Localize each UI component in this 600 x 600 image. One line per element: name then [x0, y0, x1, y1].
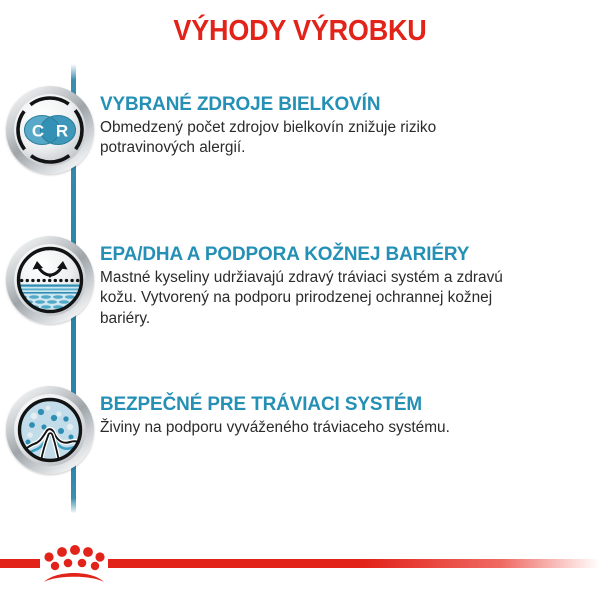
benefit-title: EPA/DHA A PODPORA KOŽNEJ BARIÉRY: [100, 244, 517, 266]
benefit-body: Mastné kyseliny udržiavajú zdravý trávia…: [100, 268, 530, 329]
benefits-list: C R VYBRANÉ ZDROJE BIELKOVÍN Obmedzený p…: [0, 58, 600, 516]
benefit-text-block: EPA/DHA A PODPORA KOŽNEJ BARIÉRY Mastné …: [100, 236, 556, 329]
page-title: VÝHODY VÝROBKU: [21, 0, 579, 46]
benefit-title: BEZPEČNÉ PRE TRÁVIACI SYSTÉM: [100, 394, 439, 416]
benefit-body: Obmedzený počet zdrojov bielkovín znižuj…: [100, 118, 530, 159]
benefit-icon-container: [0, 386, 100, 474]
benefit-item: C R VYBRANÉ ZDROJE BIELKOVÍN Obmedzený p…: [0, 86, 600, 174]
footer-rule-right: [108, 559, 600, 568]
royal-canin-crown-logo: [40, 542, 108, 584]
footer-rule-left: [0, 559, 40, 568]
benefit-text-block: VYBRANÉ ZDROJE BIELKOVÍN Obmedzený počet…: [100, 86, 556, 159]
benefit-body: Živiny na podporu vyváženého tráviaceho …: [100, 418, 450, 438]
footer-brand-bar: [0, 530, 600, 600]
skin-barrier-icon: [6, 236, 94, 324]
benefit-icon-container: C R: [0, 86, 100, 174]
selected-protein-sources-icon: C R: [6, 86, 94, 174]
benefit-icon-container: [0, 236, 100, 324]
benefit-item: BEZPEČNÉ PRE TRÁVIACI SYSTÉM Živiny na p…: [0, 386, 600, 474]
benefit-item: EPA/DHA A PODPORA KOŽNEJ BARIÉRY Mastné …: [0, 236, 600, 329]
icon-letter-r: R: [56, 122, 68, 141]
digestive-safety-icon: [6, 386, 94, 474]
benefit-text-block: BEZPEČNÉ PRE TRÁVIACI SYSTÉM Živiny na p…: [100, 386, 476, 438]
icon-letter-c: C: [32, 122, 44, 141]
benefit-title: VYBRANÉ ZDROJE BIELKOVÍN: [100, 94, 517, 116]
